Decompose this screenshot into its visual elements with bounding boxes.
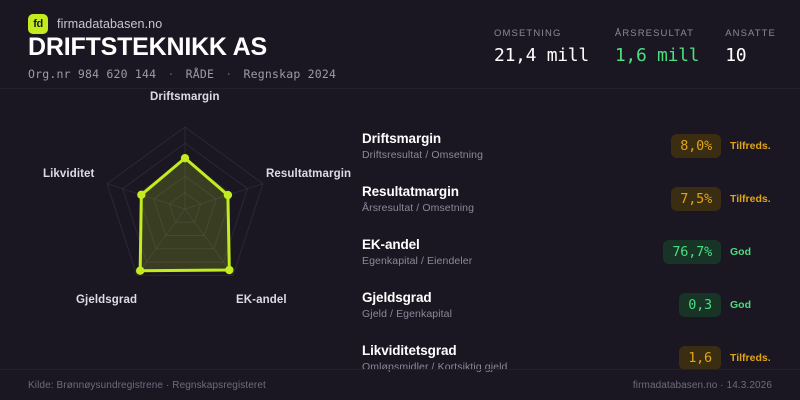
stat-label: ANSATTE — [725, 28, 776, 39]
company-meta: Org.nr 984 620 144 · RÅDE · Regnskap 202… — [28, 67, 336, 81]
brand[interactable]: fd firmadatabasen.no — [28, 14, 162, 34]
metric-right: 76,7% God — [650, 240, 782, 264]
meta-separator-2: · — [221, 67, 236, 81]
radar-chart: DriftsmarginResultatmarginEK-andelGjelds… — [0, 92, 360, 342]
radar-axis-label-ek-andel: EK-andel — [236, 294, 287, 306]
metric-row-driftsmargin[interactable]: Driftsmargin Driftsresultat / Omsetning … — [362, 126, 782, 166]
metric-formula: Gjeld / Egenkapital — [362, 308, 650, 320]
radar-axis-label-driftsmargin: Driftsmargin — [150, 91, 220, 103]
metric-value-badge: 0,3 — [679, 293, 721, 317]
radar-chart-svg — [0, 92, 360, 342]
status-badge: Tilfreds. — [730, 193, 782, 205]
metric-right: 8,0% Tilfreds. — [650, 134, 782, 158]
footer-source: Kilde: Brønnøysundregistrene · Regnskaps… — [28, 380, 266, 391]
metric-value-badge: 7,5% — [671, 187, 721, 211]
metrics-list: Driftsmargin Driftsresultat / Omsetning … — [362, 126, 782, 378]
stat-label: OMSETNING — [494, 28, 589, 39]
metric-name: Resultatmargin — [362, 184, 650, 199]
metric-name: EK-andel — [362, 237, 650, 252]
status-badge: God — [730, 299, 782, 311]
metric-right: 7,5% Tilfreds. — [650, 187, 782, 211]
company-summary-card: fd firmadatabasen.no DRIFTSTEKNIKK AS Or… — [0, 0, 800, 400]
metric-text: Driftsmargin Driftsresultat / Omsetning — [362, 131, 650, 161]
metric-text: Gjeldsgrad Gjeld / Egenkapital — [362, 290, 650, 320]
metric-text: EK-andel Egenkapital / Eiendeler — [362, 237, 650, 267]
fd-logo-icon: fd — [28, 14, 48, 34]
metric-name: Driftsmargin — [362, 131, 650, 146]
stat-arsresultat: ÅRSRESULTAT 1,6 mill — [615, 28, 699, 66]
org-number: Org.nr 984 620 144 — [28, 67, 156, 81]
metric-right: 0,3 God — [650, 293, 782, 317]
stat-value: 10 — [725, 45, 776, 66]
metric-right: 1,6 Tilfreds. — [650, 346, 782, 370]
radar-axis-label-gjeldsgrad: Gjeldsgrad — [76, 294, 137, 306]
footer-credit: firmadatabasen.no · 14.3.2026 — [633, 380, 772, 391]
status-badge: God — [730, 246, 782, 258]
radar-axis-label-likviditet: Likviditet — [43, 168, 94, 180]
metric-value-badge: 76,7% — [663, 240, 721, 264]
stat-value: 21,4 mill — [494, 45, 589, 66]
metric-name: Gjeldsgrad — [362, 290, 650, 305]
accounting-year: Regnskap 2024 — [243, 67, 336, 81]
page-title: DRIFTSTEKNIKK AS — [28, 33, 267, 62]
status-badge: Tilfreds. — [730, 140, 782, 152]
metric-row-ek-andel[interactable]: EK-andel Egenkapital / Eiendeler 76,7% G… — [362, 232, 782, 272]
metric-value-badge: 8,0% — [671, 134, 721, 158]
stat-omsetning: OMSETNING 21,4 mill — [494, 28, 589, 66]
stat-ansatte: ANSATTE 10 — [725, 28, 776, 66]
metric-row-gjeldsgrad[interactable]: Gjeldsgrad Gjeld / Egenkapital 0,3 God — [362, 285, 782, 325]
metric-formula: Driftsresultat / Omsetning — [362, 149, 650, 161]
stat-label: ÅRSRESULTAT — [615, 28, 699, 39]
site-name: firmadatabasen.no — [57, 17, 162, 31]
radar-axis-label-resultatmargin: Resultatmargin — [266, 168, 351, 180]
meta-separator-1: · — [163, 67, 178, 81]
metric-formula: Egenkapital / Eiendeler — [362, 255, 650, 267]
municipality: RÅDE — [186, 67, 215, 81]
status-badge: Tilfreds. — [730, 352, 782, 364]
header-stats: OMSETNING 21,4 mill ÅRSRESULTAT 1,6 mill… — [494, 28, 776, 66]
metric-value-badge: 1,6 — [679, 346, 721, 370]
metric-name: Likviditetsgrad — [362, 343, 650, 358]
header: fd firmadatabasen.no DRIFTSTEKNIKK AS Or… — [0, 0, 800, 88]
metric-row-resultatmargin[interactable]: Resultatmargin Årsresultat / Omsetning 7… — [362, 179, 782, 219]
metric-formula: Årsresultat / Omsetning — [362, 202, 650, 214]
footer: Kilde: Brønnøysundregistrene · Regnskaps… — [0, 370, 800, 400]
stat-value: 1,6 mill — [615, 45, 699, 66]
metric-text: Resultatmargin Årsresultat / Omsetning — [362, 184, 650, 214]
header-divider — [0, 88, 800, 89]
